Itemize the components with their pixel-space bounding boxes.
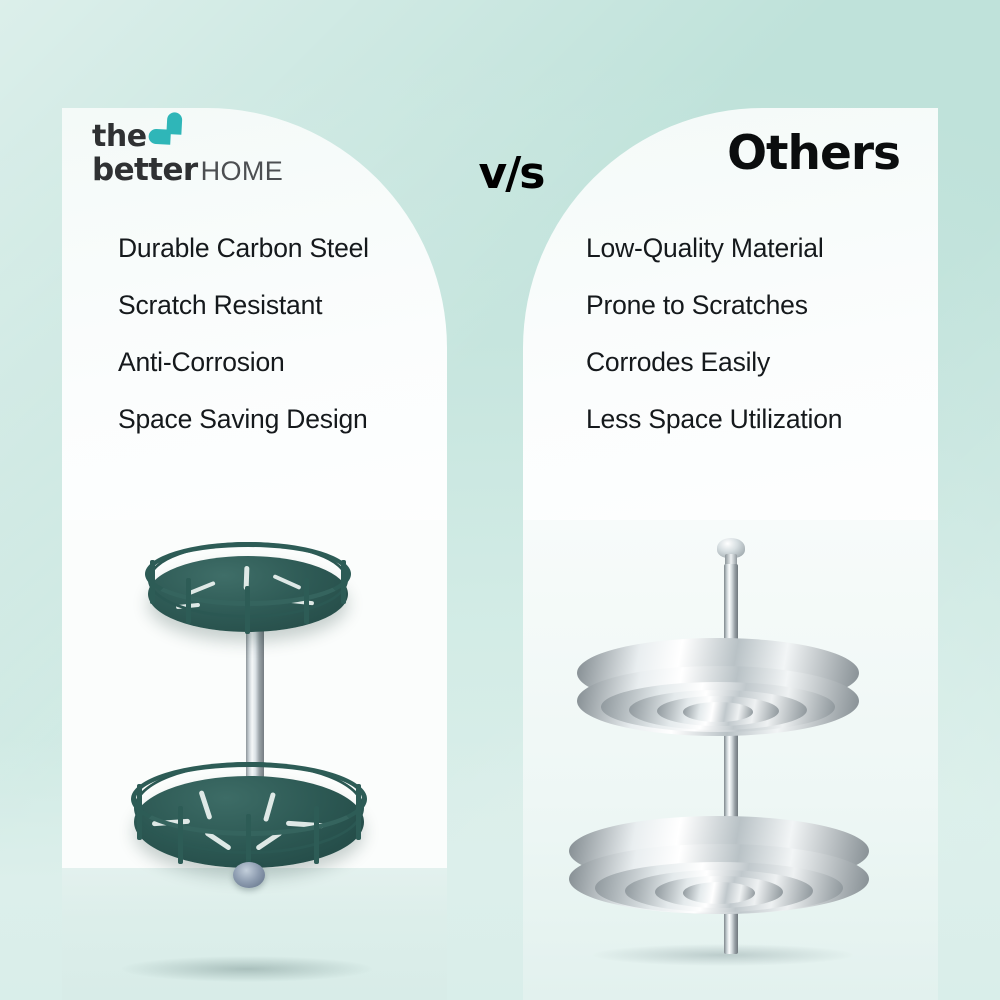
others-heading: Others: [727, 126, 900, 181]
product-tier-bottom: [569, 816, 869, 944]
rail-post: [245, 586, 250, 634]
wire-inner-ring: [683, 702, 753, 722]
wire-post: [810, 870, 814, 906]
wire-post: [573, 848, 577, 882]
feature-item: Durable Carbon Steel: [118, 233, 369, 264]
feature-item: Scratch Resistant: [118, 290, 369, 321]
feature-item: Space Saving Design: [118, 404, 369, 435]
product-tier-top: [577, 638, 859, 758]
brand-logo: the better HOME: [92, 118, 283, 187]
feature-list-others: Low-Quality Material Prone to Scratches …: [586, 233, 842, 461]
product-image-others: [523, 520, 938, 1000]
product-tier-bottom: [134, 762, 364, 902]
heart-icon: [147, 118, 182, 153]
feature-item: Prone to Scratches: [586, 290, 842, 321]
wire-post: [852, 668, 856, 700]
feature-item: Anti-Corrosion: [118, 347, 369, 378]
wire-post: [581, 668, 585, 700]
panel-others: Others Low-Quality Material Prone to Scr…: [523, 108, 938, 1000]
feature-item: Low-Quality Material: [586, 233, 842, 264]
logo-text-the: the: [92, 122, 147, 152]
logo-text-home: HOME: [201, 156, 284, 187]
feature-item: Less Space Utilization: [586, 404, 842, 435]
feature-list-ours: Durable Carbon Steel Scratch Resistant A…: [118, 233, 369, 461]
rail-post: [178, 806, 183, 864]
product-tier-top: [148, 542, 348, 662]
product-shadow: [122, 956, 372, 982]
wire-post: [625, 870, 629, 906]
wire-inner-ring: [683, 882, 755, 904]
wire-post: [804, 690, 808, 724]
logo-text-better: better: [92, 153, 198, 187]
wire-divider-post: [735, 834, 739, 876]
product-image-ours: [62, 520, 447, 1000]
panel-the-better-home: the better HOME Durable Carbon Steel Scr…: [62, 108, 447, 1000]
rail-post: [304, 578, 309, 624]
rail-post: [356, 784, 361, 840]
comparison-infographic: the better HOME Durable Carbon Steel Scr…: [0, 0, 1000, 1000]
rail-post: [314, 806, 319, 864]
rail-post: [186, 578, 191, 624]
wire-post: [862, 848, 866, 882]
feature-item: Corrodes Easily: [586, 347, 842, 378]
rail-post: [341, 560, 346, 604]
logo-row-top: the: [92, 118, 283, 152]
rail-post: [137, 784, 142, 840]
caster-wheel: [233, 862, 265, 888]
versus-label: v/s: [471, 148, 551, 199]
logo-row-bottom: better HOME: [92, 153, 283, 187]
wire-divider-post: [734, 654, 738, 694]
wire-post: [629, 690, 633, 724]
rail-post: [150, 560, 155, 604]
